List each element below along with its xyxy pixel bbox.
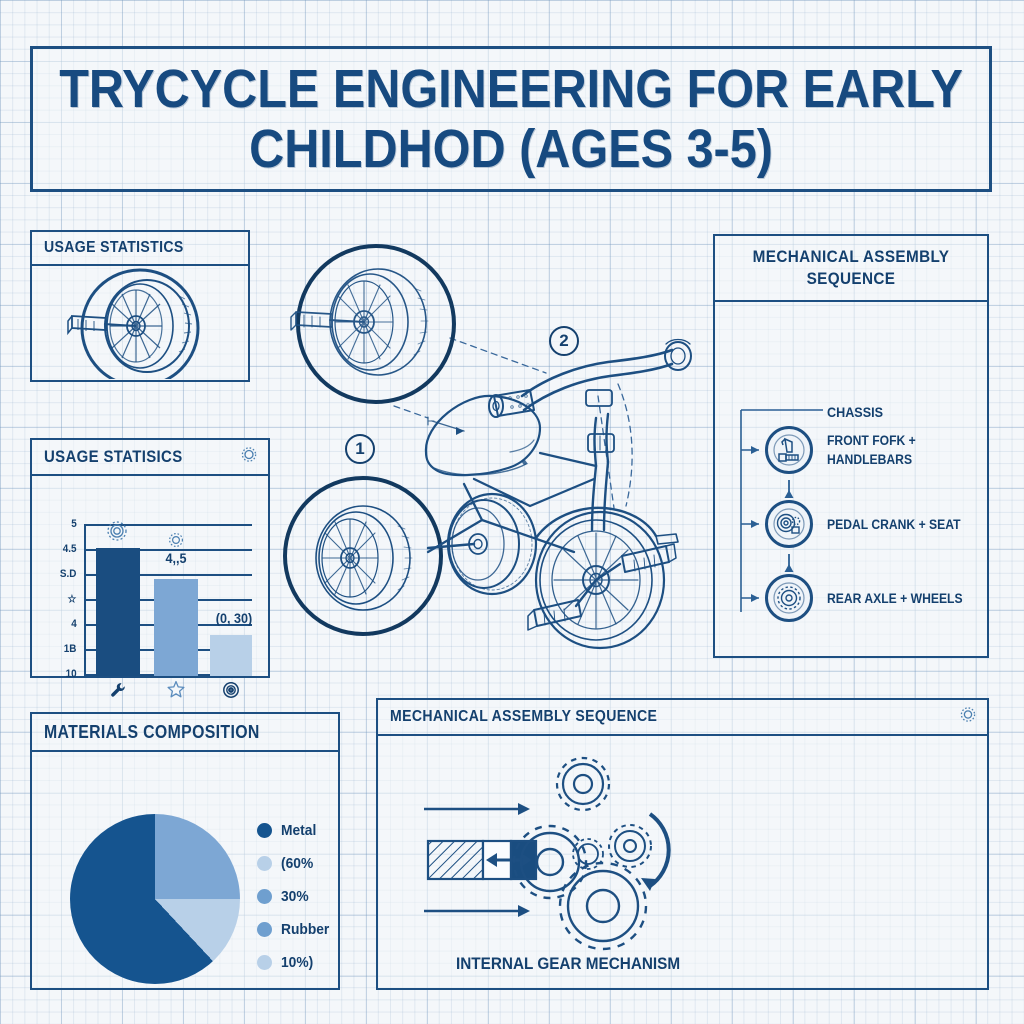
gear-wheel-icon — [772, 581, 806, 615]
page-title-line-1: TRYCYCLE ENGINEERING FOR EARLY — [59, 59, 963, 119]
title-banner: TRYCYCLE ENGINEERING FOR EARLY CHILDHOD … — [30, 46, 992, 192]
wheel-panel-title: USAGE STATISTICS — [44, 239, 184, 257]
y-tick-1: 4.5 — [62, 543, 76, 555]
step-node-1 — [765, 426, 813, 474]
legend-item: 30% — [257, 880, 334, 913]
step-label-3: REAR AXLE + WHEELS — [827, 589, 963, 608]
step-node-2 — [765, 500, 813, 548]
gear-mechanism-panel: MECHANICAL ASSEMBLY SEQUENCE — [376, 698, 989, 990]
legend-label: Metal — [281, 822, 316, 839]
bar-2 — [210, 635, 252, 676]
y-tick-3: ☆ — [68, 593, 77, 606]
assembly-panel-title: MECHANICAL ASSEMBLY SEQUENCE — [734, 246, 968, 290]
legend-label: Rubber — [281, 921, 329, 938]
y-tick-2: S.D — [60, 568, 77, 580]
gear-mechanism-caption: INTERNAL GEAR MECHANISM — [456, 954, 680, 974]
assembly-sequence-panel: MECHANICAL ASSEMBLY SEQUENCE — [713, 234, 989, 658]
gear-icon — [958, 705, 978, 730]
bar-0 — [96, 548, 140, 676]
step-label-2: PEDAL CRANK + SEAT — [827, 515, 961, 534]
pie-legend: Metal (60% 30% Rubber 10%) — [257, 814, 334, 979]
gear-panel-header: MECHANICAL ASSEMBLY SEQUENCE — [378, 700, 987, 736]
wheel-illustration — [32, 266, 248, 379]
wheel-detail-panel: USAGE STATISTICS — [30, 230, 250, 382]
materials-composition-panel: MATERIALS COMPOSITION Metal (60% 30% Rub… — [30, 712, 340, 990]
gear-icon — [239, 445, 259, 470]
callout-number-1: 1 — [345, 434, 375, 464]
bar-chart-plot: 5 4.5 S.D ☆ 4 1B 10 4,,5 (0, 30) — [84, 524, 252, 676]
legend-label: (60% — [281, 855, 313, 872]
wheel-panel-body — [32, 266, 248, 384]
legend-label: 30% — [281, 888, 309, 905]
step-label-1: FRONT FOFK + HANDLEBARS — [827, 431, 969, 469]
gear-icon — [166, 530, 186, 555]
gear-panel-body: INTERNAL GEAR MECHANISM — [378, 736, 987, 991]
legend-swatch — [257, 889, 272, 904]
page-title-line-2: CHILDHOD (AGES 3-5) — [249, 119, 773, 179]
bar-1 — [154, 579, 198, 676]
legend-item: 10%) — [257, 946, 334, 979]
pie-chart — [70, 814, 240, 984]
fork-handlebar-icon — [772, 433, 806, 467]
y-tick-0: 5 — [71, 518, 77, 530]
assembly-step-1[interactable]: FRONT FOFK + HANDLEBARS — [765, 426, 985, 474]
step-node-3 — [765, 574, 813, 622]
callout-2-label: 2 — [559, 331, 568, 351]
pie-panel-title: MATERIALS COMPOSITION — [44, 722, 260, 743]
legend-swatch — [257, 955, 272, 970]
assembly-panel-header: MECHANICAL ASSEMBLY SEQUENCE — [715, 236, 987, 302]
wheel-panel-header: USAGE STATISTICS — [32, 232, 248, 266]
bar-label-2: (0, 30) — [216, 610, 252, 626]
y-tick-5: 1B — [64, 643, 77, 655]
tricycle-blueprint-illustration — [278, 238, 708, 668]
legend-swatch — [257, 856, 272, 871]
legend-item: (60% — [257, 847, 334, 880]
legend-label: 10%) — [281, 954, 313, 971]
gear-panel-title: MECHANICAL ASSEMBLY SEQUENCE — [390, 708, 657, 726]
y-tick-4: 4 — [71, 618, 77, 630]
callout-number-2: 2 — [549, 326, 579, 356]
target-icon — [222, 681, 240, 704]
callout-1-label: 1 — [355, 439, 364, 459]
legend-item: Rubber — [257, 913, 334, 946]
bar-panel-header: USAGE STATISICS — [32, 440, 268, 476]
y-tick-6: 10 — [65, 668, 76, 680]
assembly-step-2[interactable]: PEDAL CRANK + SEAT — [765, 500, 985, 548]
bar-panel-title: USAGE STATISICS — [44, 447, 183, 467]
pie-panel-header: MATERIALS COMPOSITION — [32, 714, 338, 752]
assembly-root-label: CHASSIS — [827, 404, 883, 420]
assembly-step-3[interactable]: REAR AXLE + WHEELS — [765, 574, 985, 622]
star-icon — [167, 680, 186, 704]
usage-statistics-bar-panel: USAGE STATISICS 5 4.5 S.D ☆ 4 1B — [30, 438, 270, 678]
wrench-icon — [109, 681, 127, 704]
gear-icon — [104, 518, 130, 549]
gear-mechanism-diagram — [378, 736, 986, 986]
legend-swatch — [257, 823, 272, 838]
legend-item: Metal — [257, 814, 334, 847]
pedal-crank-icon — [772, 507, 806, 541]
legend-swatch — [257, 922, 272, 937]
